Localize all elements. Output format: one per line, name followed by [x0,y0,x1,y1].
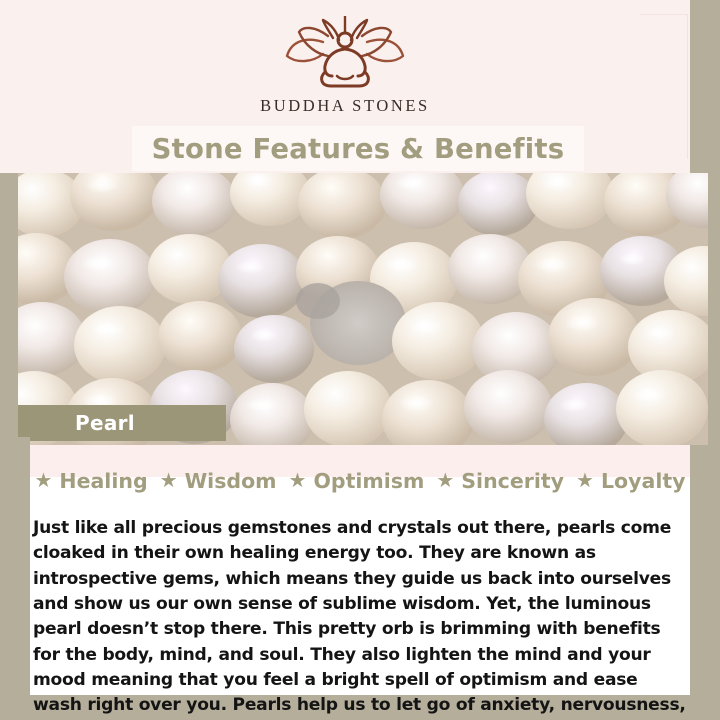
keyword-item: ★Healing [34,469,159,493]
infographic-card: BUDDHA STONES Stone Features & Benefits [0,0,720,720]
frame-strip-left [0,173,18,695]
star-icon: ★ [160,471,178,491]
keyword-label: Optimism [313,469,424,493]
keyword-label: Healing [59,469,147,493]
brand-wordmark: BUDDHA STONES [0,96,690,116]
frame-notch [18,437,30,445]
keyword-label: Loyalty [601,469,686,493]
page-title: Stone Features & Benefits [152,133,565,165]
title-ribbon: Stone Features & Benefits [132,126,584,171]
keyword-item: ★Optimism [289,469,437,493]
keyword-label: Wisdom [185,469,277,493]
star-icon: ★ [289,471,307,491]
lotus-meditation-icon [279,16,411,90]
star-icon: ★ [436,471,454,491]
brand-logo: BUDDHA STONES [0,16,690,116]
keyword-list: ★Healing★Wisdom★Optimism★Sincerity★Loyal… [30,469,690,493]
star-icon: ★ [34,471,52,491]
star-icon: ★ [576,471,594,491]
keyword-label: Sincerity [461,469,564,493]
keyword-item: ★Wisdom [160,469,289,493]
body-copy: Just like all precious gemstones and cry… [33,516,687,720]
keyword-item: ★Sincerity [436,469,576,493]
stone-name-label: Pearl [75,411,135,435]
stone-name-band: Pearl [18,405,226,441]
content-panel: ★Healing★Wisdom★Optimism★Sincerity★Loyal… [30,445,690,695]
header-hairline-top [640,14,688,15]
keyword-item: ★Loyalty [576,469,685,493]
